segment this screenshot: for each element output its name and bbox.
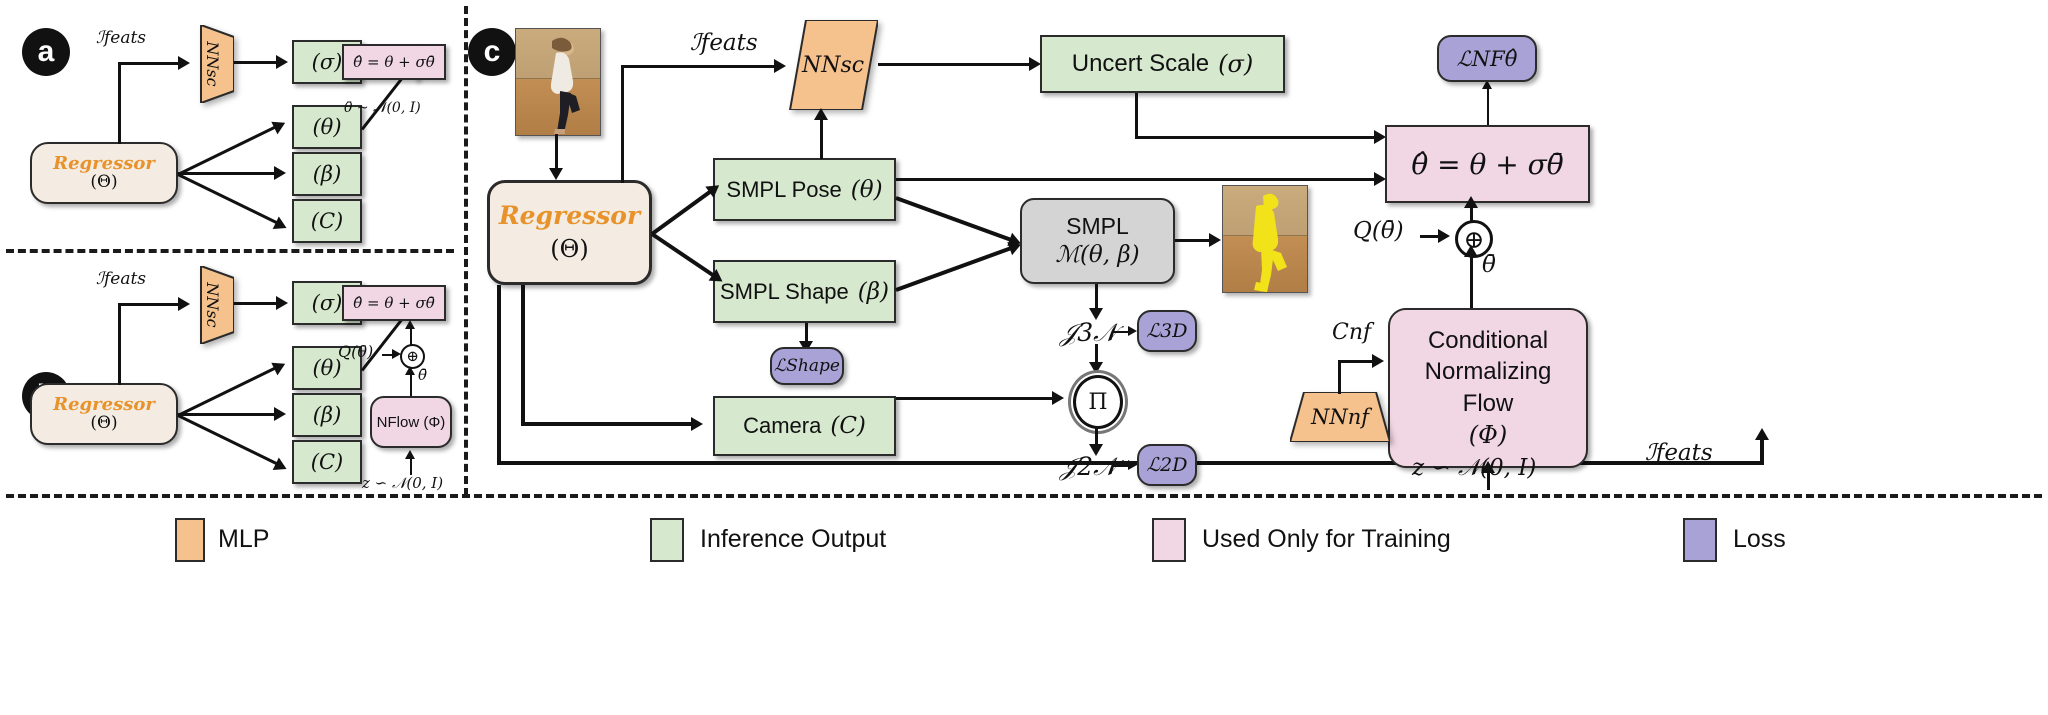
panel-c-q-to-plus-arrow [1438, 229, 1450, 243]
panel-c-cnf-to-plus [1470, 252, 1473, 308]
panel-c-smpl-to-render [1175, 239, 1213, 242]
panel-c-smpl-pose-box: SMPL Pose (θ) [713, 158, 896, 221]
panel-c-camera-box: Camera (C) [713, 396, 896, 456]
panel-c-nn-sc: NNsc [788, 20, 878, 110]
panel-a-nn-to-sigma-arrow [276, 55, 288, 69]
panel-b-reg-to-camera [177, 414, 277, 465]
panel-b-nflow-label: NFlow (Φ) [377, 414, 446, 431]
panel-c-loss-shape-label: ℒShape [774, 356, 840, 376]
panel-c-cnf-line3: Flow [1463, 388, 1514, 420]
panel-c-j2d-label: 𝒥2𝒩 [1060, 452, 1117, 482]
panel-c-regressor: Regressor (Θ) [487, 180, 652, 285]
panel-c-badge: c [468, 28, 516, 76]
panel-c-loss-nf-box: ℒNFθ̂ [1437, 35, 1537, 82]
panel-c-j3d-label: 𝒥3𝒩 [1060, 318, 1117, 348]
panel-b-regressor: Regressor (Θ) [30, 383, 178, 445]
panel-c-uncert-scale-sym: (σ) [1218, 50, 1253, 78]
panel-b-theta-bar: θ̄ [418, 366, 427, 384]
panel-c-uncert-hline [1135, 136, 1378, 139]
panel-a-reg-to-beta-arrow [274, 166, 286, 180]
panel-c-nnnf-arrow [1372, 354, 1384, 368]
panel-b-regressor-name: Regressor [53, 396, 155, 415]
panel-c-feats-label-top: ℐfeats [690, 30, 758, 56]
panel-c-loss-3d-box: ℒ3D [1137, 310, 1197, 352]
legend-label-training: Used Only for Training [1202, 525, 1451, 554]
panel-c-plus-to-hat-arrow [1464, 196, 1478, 208]
divider-left-right [464, 6, 468, 496]
panel-c-reg-camera-arrow [691, 417, 703, 431]
panel-c-projection-symbol: Π [1088, 390, 1107, 415]
panel-b-feats-label: ℐfeats [96, 269, 146, 289]
panel-c-shape-to-smpl [895, 246, 1011, 291]
panel-c-uncert-scale-label: Uncert Scale [1072, 50, 1209, 78]
panel-c-reg-to-pose [651, 190, 712, 236]
legend-label-inference: Inference Output [700, 525, 886, 554]
panel-c-camera-label: Camera [743, 413, 821, 439]
panel-a-regressor: Regressor (Θ) [30, 142, 178, 204]
divider-a-b [6, 249, 454, 253]
panel-c-camera-sym: (C) [830, 413, 866, 439]
panel-c-camera-proj-line [896, 397, 1056, 400]
panel-c-cnf-line1: Conditional [1428, 325, 1548, 357]
panel-c-loss-shape-box: ℒShape [770, 347, 844, 385]
panel-a-badge: a [22, 28, 70, 76]
panel-c-j2d-to-loss-arrow [1128, 460, 1137, 470]
panel-c-uncert-vline [1135, 93, 1138, 138]
panel-a-theta-hat-eq: θ̂ = θ + σθ̄ [342, 44, 446, 80]
panel-c-pose-to-smpl [895, 196, 1011, 241]
panel-c-cnf-line2: Normalizing [1425, 356, 1552, 388]
panel-b-plus-symbol: ⊕ [406, 349, 419, 364]
legend-swatch-training [1152, 518, 1186, 562]
panel-c-nn-to-uncert [878, 63, 1033, 66]
panel-b-sigma-label: (σ) [312, 291, 343, 315]
panel-b-nn-to-sigma [234, 302, 280, 305]
legend-swatch-inference [650, 518, 684, 562]
panel-c-reg-to-shape [651, 232, 715, 277]
panel-a-feats-hline [118, 62, 180, 65]
panel-c-smpl-shape-box: SMPL Shape (β) [713, 260, 896, 323]
panel-b-beta-label: (β) [313, 403, 342, 427]
panel-a-sigma-label: (σ) [312, 50, 343, 74]
panel-c-hat-to-lossnf [1487, 88, 1489, 125]
panel-a-regressor-param: (Θ) [90, 174, 117, 192]
panel-c-pose-to-nn-arrow [814, 108, 828, 120]
panel-a-beta-box: (β) [292, 152, 362, 196]
panel-b-beta-box: (β) [292, 393, 362, 437]
panel-a-reg-to-camera [177, 173, 277, 224]
panel-c-photo-to-reg [555, 134, 558, 172]
panel-a-reg-to-theta [177, 126, 275, 176]
panel-c-loss-nf-label: ℒNFθ̂ [1457, 47, 1518, 71]
divider-legend [6, 494, 2042, 498]
panel-c-render-image [1222, 185, 1308, 293]
panel-a-theta-hat-eq-label: θ̂ = θ + σθ̄ [353, 53, 435, 71]
panel-b-camera-box: (C) [292, 440, 362, 484]
panel-c-nf-up [1760, 437, 1764, 463]
panel-a-theta-label: (θ) [312, 115, 341, 139]
panel-a-nn-sc: NNsc [192, 25, 234, 103]
panel-a-reg-to-beta [178, 172, 276, 175]
panel-b-feats-vline [118, 303, 121, 385]
panel-c-loss-2d-box: ℒ2D [1137, 444, 1197, 486]
panel-a-camera-label: (C) [311, 209, 343, 233]
panel-b-reg-to-beta-arrow [274, 407, 286, 421]
panel-c-loss-3d-label: ℒ3D [1146, 320, 1187, 342]
panel-a-regressor-name: Regressor [53, 155, 155, 174]
panel-c-pose-to-hat [896, 178, 1378, 181]
panel-b-q-theta: Q(θ̄) [338, 342, 373, 361]
panel-b-z-note: z ∽ 𝒩(0, I) [362, 474, 443, 492]
panel-c-smpl-pose-sym: (θ) [851, 177, 883, 203]
panel-c-regressor-param: (Θ) [550, 233, 588, 265]
panel-b-nflow-box: NFlow (Φ) [370, 396, 452, 448]
legend-label-mlp: MLP [218, 525, 269, 554]
panel-a-nn-to-sigma [234, 61, 280, 64]
panel-c-loss-2d-label: ℒ2D [1146, 454, 1187, 476]
panel-c-z-note: z ∽ 𝒩(0, I) [1412, 455, 1536, 481]
panel-c-smpl-pose-label: SMPL Pose [726, 177, 841, 203]
panel-b-regressor-param: (Θ) [90, 415, 117, 433]
panel-b-theta-hat-eq: θ̂ = θ + σθ̄ [342, 285, 446, 321]
panel-c-pose-to-nn [820, 117, 823, 159]
panel-a-camera-box: (C) [292, 199, 362, 243]
panel-a-beta-label: (β) [313, 162, 342, 186]
panel-b-camera-label: (C) [311, 450, 343, 474]
panel-c-q-theta: Q(θ̄) [1353, 218, 1404, 244]
figure-canvas: a Regressor (Θ) ℐfeats NNsc (σ) (θ) (β) … [0, 0, 2048, 715]
panel-c-feats-vline [621, 65, 624, 183]
panel-b-nflow-to-plus-arrow [405, 366, 415, 375]
panel-a-feats-vline [118, 62, 121, 144]
panel-c-nn-nf: NNnf [1290, 392, 1390, 442]
panel-c-j3d-to-loss-arrow [1128, 326, 1137, 336]
panel-b-z-to-nflow-arrow [405, 450, 415, 459]
panel-c-smpl-to-render-arrow [1209, 233, 1221, 247]
panel-c-photo-to-reg-arrow [549, 168, 563, 180]
panel-b-nflow-to-plus [410, 372, 412, 396]
panel-c-smpl-fn: ℳ(θ, β) [1055, 241, 1139, 270]
panel-c-reg-camera-v [521, 285, 525, 424]
panel-a-feats-arrow [178, 56, 190, 70]
panel-c-nnnf-vline [1338, 360, 1341, 394]
panel-c-smpl-shape-sym: (β) [858, 279, 889, 305]
panel-b-reg-to-theta [177, 367, 275, 417]
panel-c-input-image [515, 28, 601, 136]
panel-c-smpl-shape-label: SMPL Shape [720, 279, 849, 305]
panel-c-cnf-box: Conditional Normalizing Flow (Φ) [1388, 308, 1588, 468]
panel-b-reg-to-beta [178, 413, 276, 416]
panel-c-uncert-scale-box: Uncert Scale (σ) [1040, 35, 1285, 93]
panel-c-cnf-cond-label: Cnf [1332, 320, 1371, 345]
panel-c-smpl-box: SMPL ℳ(θ, β) [1020, 198, 1175, 284]
panel-c-regressor-name: Regressor [499, 199, 640, 233]
panel-c-projection: Π [1068, 370, 1128, 434]
panel-c-cnf-to-plus-arrow [1464, 245, 1478, 257]
panel-c-reg-camera-h [521, 422, 695, 426]
panel-b-nn-to-sigma-arrow [276, 296, 288, 310]
panel-c-theta-hat-label: θ̂ = θ + σθ̄ [1411, 148, 1563, 181]
panel-a-feats-label: ℐfeats [96, 28, 146, 48]
panel-c-theta-hat-box: θ̂ = θ + σθ̄ [1385, 125, 1590, 203]
panel-c-theta-bar: θ̄ [1482, 252, 1496, 278]
panel-c-camera-proj-arrow [1052, 391, 1064, 405]
panel-c-feats-label-bottom: ℐfeats [1645, 440, 1713, 466]
legend-swatch-loss [1683, 518, 1717, 562]
panel-c-smpl-title: SMPL [1066, 212, 1129, 241]
panel-b-feats-arrow [178, 297, 190, 311]
panel-a-prior-note: θ̄ ~ 𝒩(0, I) [344, 100, 421, 116]
panel-b-plus-to-hat-arrow [405, 320, 415, 329]
panel-c-reg-nf-v [497, 285, 501, 465]
panel-c-feats-hline [621, 65, 778, 68]
legend-label-loss: Loss [1733, 525, 1786, 554]
panel-b-feats-hline [118, 303, 180, 306]
panel-b-nn-sc: NNsc [192, 266, 234, 344]
panel-b-theta-hat-eq-label: θ̂ = θ + σθ̄ [353, 294, 435, 312]
panel-c-nnnf-hline [1338, 360, 1374, 363]
legend-swatch-mlp [175, 518, 205, 562]
panel-c-cnf-sym: (Φ) [1469, 420, 1507, 452]
panel-c-feats-arrow [774, 59, 786, 73]
panel-c-nf-up-arrow [1755, 428, 1769, 440]
